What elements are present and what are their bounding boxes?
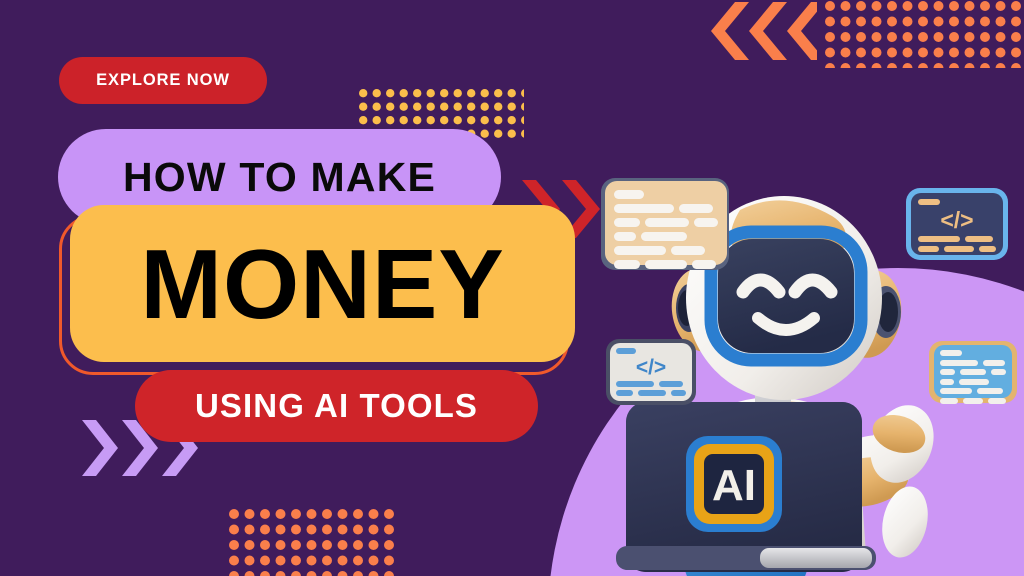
chevrons-top-right-icon	[697, 2, 817, 60]
data-card-blue	[929, 341, 1017, 403]
explore-now-label: EXPLORE NOW	[96, 71, 230, 90]
code-glyph-light: </>	[616, 357, 686, 378]
laptop: AI AI	[616, 402, 876, 576]
code-card-dark: </>	[906, 188, 1008, 260]
code-glyph-dark: </>	[918, 209, 996, 232]
ai-chip-label-top: AI	[712, 461, 756, 510]
money-banner: MONEY	[70, 205, 575, 362]
text-document-card	[601, 178, 729, 270]
subtitle-text: USING AI TOOLS	[195, 387, 478, 425]
money-text: MONEY	[140, 235, 504, 333]
poster-canvas: AI AI </>	[0, 0, 1024, 576]
subtitle-pill: USING AI TOOLS	[135, 370, 538, 442]
headline-text: HOW TO MAKE	[123, 154, 436, 201]
explore-now-badge[interactable]: EXPLORE NOW	[59, 57, 267, 104]
dotgrid-top-right	[824, 0, 1024, 68]
code-card-light: </>	[606, 339, 696, 405]
dotgrid-bottom	[228, 508, 396, 576]
